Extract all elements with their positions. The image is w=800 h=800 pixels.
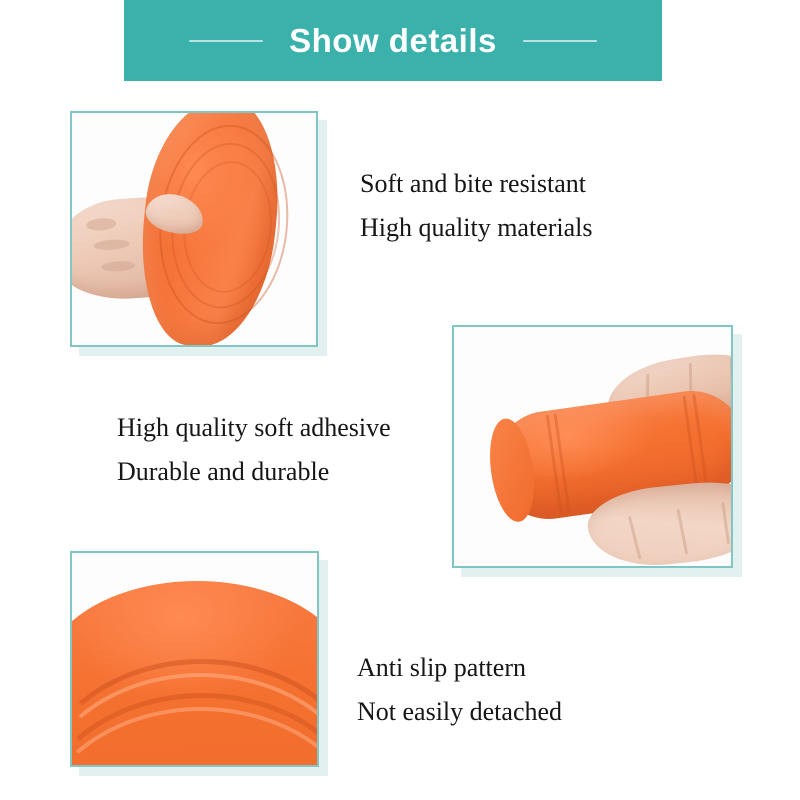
- feature-caption-line: Not easily detached: [357, 690, 562, 734]
- feature-caption-soft-adhesive-durable: High quality soft adhesive Durable and d…: [117, 406, 391, 494]
- feature-caption-line: High quality materials: [360, 206, 593, 250]
- roll-groove: [554, 413, 571, 512]
- orange-surface-macro: [72, 581, 317, 765]
- product-photo-ridge-macro: [72, 553, 317, 765]
- product-photo-rolled-disc: [454, 327, 731, 566]
- roll-end-cap: [484, 416, 540, 525]
- feature-caption-line: Anti slip pattern: [357, 646, 562, 690]
- feature-photo-frame-soft-adhesive-durable: [452, 325, 733, 568]
- feature-photo-frame-anti-slip-pattern: [70, 551, 319, 767]
- feature-caption-soft-bite-resistant: Soft and bite resistant High quality mat…: [360, 162, 593, 250]
- finger-separation-line: [721, 502, 730, 544]
- feature-caption-line: Soft and bite resistant: [360, 162, 593, 206]
- orange-disc-product: [131, 113, 288, 345]
- feature-photo-frame-soft-bite-resistant: [70, 111, 318, 347]
- feature-caption-anti-slip-pattern: Anti slip pattern Not easily detached: [357, 646, 562, 734]
- feature-caption-line: High quality soft adhesive: [117, 406, 391, 450]
- finger-separation-line: [628, 516, 642, 559]
- finger-separation-line: [730, 358, 731, 398]
- banner-rule-right-icon: [523, 40, 597, 42]
- page-header-banner: Show details: [124, 0, 662, 81]
- knuckle-crease: [93, 238, 130, 250]
- page-title: Show details: [289, 24, 497, 57]
- knuckle-crease: [101, 260, 136, 272]
- banner-rule-left-icon: [189, 40, 263, 42]
- knuckle-crease: [86, 217, 117, 231]
- finger-separation-line: [676, 509, 688, 555]
- feature-caption-line: Durable and durable: [117, 450, 391, 494]
- product-photo-flexing-disc: [72, 113, 316, 345]
